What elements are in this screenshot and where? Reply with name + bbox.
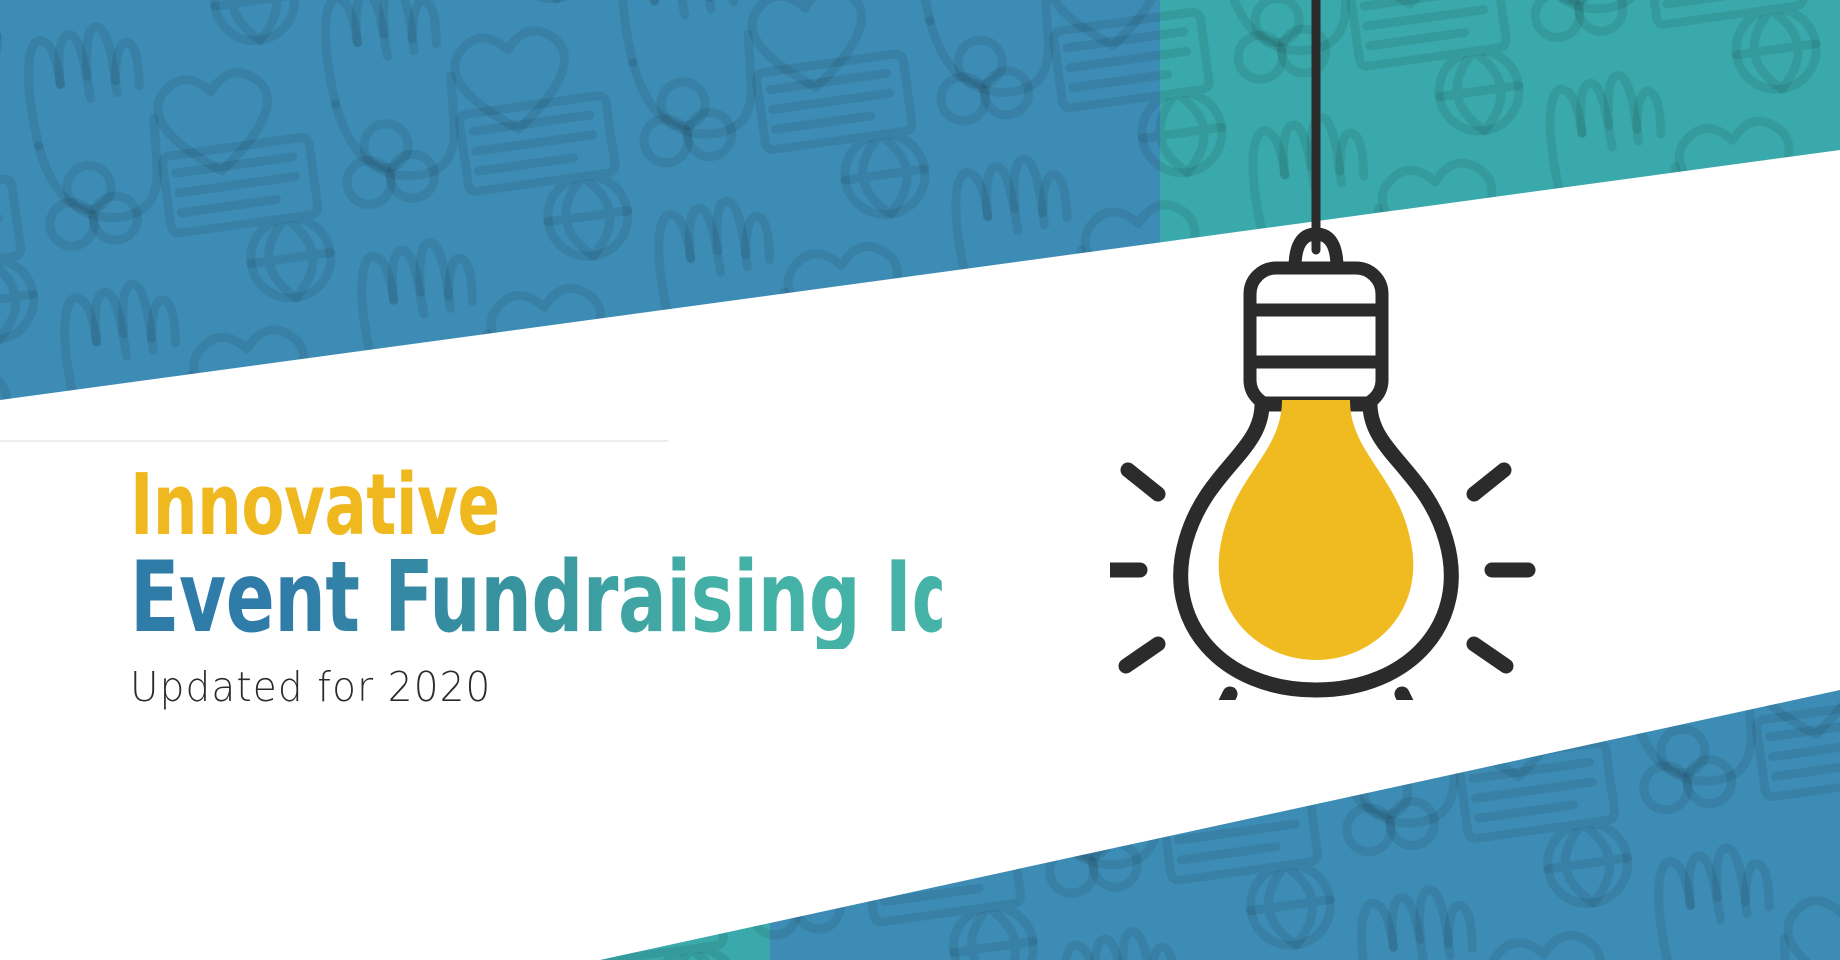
divider-rule (0, 440, 668, 442)
bulb-base-icon (1250, 268, 1382, 406)
headline-line-2: Event Fundraising Ideas (130, 549, 942, 649)
subtitle: Updated for 2020 (130, 663, 1071, 711)
banner-canvas: Innovative Event Fundraising Ideas Updat… (0, 0, 1840, 960)
light-bulb-illustration (1110, 0, 1670, 700)
headline-line-1: Innovative (130, 464, 942, 547)
headline-block: Innovative Event Fundraising Ideas Updat… (0, 440, 1120, 711)
